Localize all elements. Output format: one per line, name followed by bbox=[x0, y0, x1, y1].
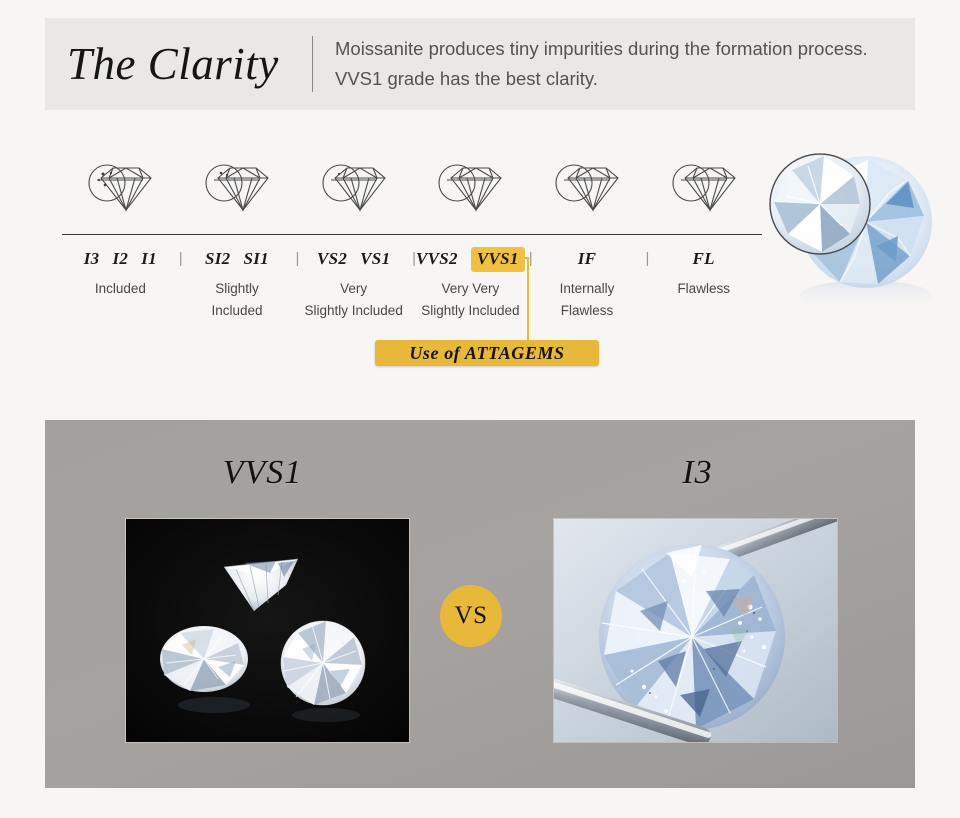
diamond-loupe-icon bbox=[83, 158, 157, 222]
grade-codes: SI2 SI1 bbox=[205, 249, 269, 269]
clarity-icon-row bbox=[62, 150, 762, 222]
header-divider bbox=[312, 36, 313, 92]
diamond-loupe-icon bbox=[317, 158, 391, 222]
grade-description: Included bbox=[95, 278, 146, 300]
grade-codes: VS2 VS1 bbox=[317, 249, 390, 269]
header-band: The Clarity Moissanite produces tiny imp… bbox=[45, 18, 915, 110]
icon-cell bbox=[645, 158, 762, 222]
diamond-loupe-icon bbox=[667, 158, 741, 222]
clarity-group-fl[interactable]: FL Flawless bbox=[645, 249, 762, 322]
comparison-panel: VVS1 I3 bbox=[45, 420, 915, 788]
icon-cell bbox=[62, 158, 179, 222]
vs-label: VS bbox=[455, 602, 488, 630]
vs-badge: VS bbox=[440, 585, 502, 647]
callout-label: Use of ATTAGEMS bbox=[409, 343, 564, 364]
clarity-group-vvs[interactable]: VVS2 VVS1 Very Very Slightly Included | bbox=[412, 249, 529, 322]
icon-cell bbox=[295, 158, 412, 222]
grade-code: I3 bbox=[84, 249, 100, 269]
header-description: Moissanite produces tiny impurities duri… bbox=[335, 34, 915, 94]
grade-description: Very Very Slightly Included bbox=[421, 278, 519, 322]
clarity-group-vs[interactable]: VS2 VS1 Very Slightly Included | bbox=[295, 249, 412, 322]
scale-divider-line bbox=[62, 234, 762, 235]
grade-description: Internally Flawless bbox=[560, 278, 615, 322]
diamond-loupe-icon bbox=[200, 158, 274, 222]
hero-diamond-image bbox=[758, 138, 954, 318]
grade-description: Flawless bbox=[677, 278, 730, 300]
diamond-loupe-icon bbox=[550, 158, 624, 222]
page-title: The Clarity bbox=[45, 42, 312, 87]
vvs1-diamonds-photo[interactable] bbox=[125, 518, 410, 743]
grade-code: I2 bbox=[112, 249, 128, 269]
clarity-label-row: I3 I2 I1 Included | SI2 SI1 Slightly Inc… bbox=[62, 249, 762, 322]
grade-codes: FL bbox=[693, 249, 715, 269]
grade-code: VS2 bbox=[317, 249, 347, 269]
comparison-left-title-cell: VVS1 bbox=[45, 454, 480, 492]
grade-description: Slightly Included bbox=[211, 278, 262, 322]
grade-code: SI2 bbox=[205, 249, 230, 269]
grade-codes: I3 I2 I1 bbox=[84, 249, 157, 269]
i3-diamond-photo[interactable] bbox=[553, 518, 838, 743]
grade-code: I1 bbox=[141, 249, 157, 269]
grade-code: VS1 bbox=[360, 249, 390, 269]
comparison-right-title: I3 bbox=[682, 454, 712, 491]
clarity-scale: I3 I2 I1 Included | SI2 SI1 Slightly Inc… bbox=[62, 150, 762, 322]
grade-code: IF bbox=[578, 249, 597, 269]
grade-code-highlighted[interactable]: VVS1 bbox=[471, 247, 525, 272]
grade-code: SI1 bbox=[244, 249, 269, 269]
grade-codes: IF bbox=[578, 249, 597, 269]
clarity-infographic-page: The Clarity Moissanite produces tiny imp… bbox=[0, 0, 960, 818]
icon-cell bbox=[179, 158, 296, 222]
grade-code: VVS2 bbox=[416, 249, 458, 269]
grade-codes: VVS2 VVS1 bbox=[416, 249, 525, 269]
grade-code: FL bbox=[693, 249, 715, 269]
clarity-group-si[interactable]: SI2 SI1 Slightly Included | bbox=[179, 249, 296, 322]
grade-description: Very Slightly Included bbox=[305, 278, 403, 322]
comparison-right-title-cell: I3 bbox=[480, 454, 915, 492]
comparison-left-title: VVS1 bbox=[223, 454, 303, 491]
callout-badge[interactable]: Use of ATTAGEMS bbox=[375, 340, 599, 366]
icon-cell bbox=[529, 158, 646, 222]
comparison-titles: VVS1 I3 bbox=[45, 454, 915, 492]
icon-cell bbox=[412, 158, 529, 222]
clarity-group-i[interactable]: I3 I2 I1 Included | bbox=[62, 249, 179, 322]
diamond-loupe-icon bbox=[433, 158, 507, 222]
clarity-group-if[interactable]: IF Internally Flawless | bbox=[529, 249, 646, 322]
